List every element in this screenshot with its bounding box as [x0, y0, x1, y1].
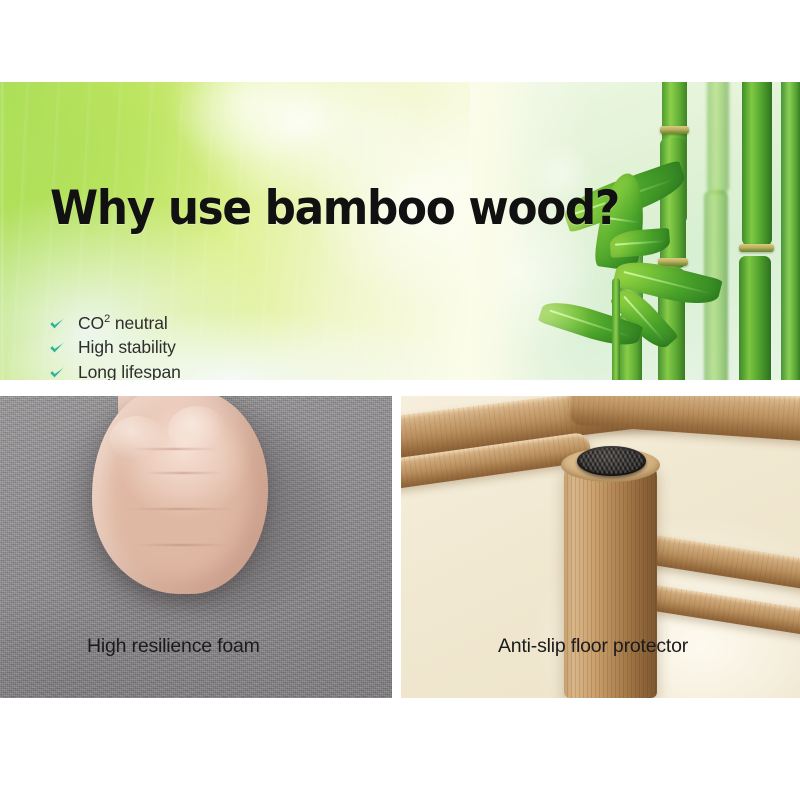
check-icon: [48, 363, 67, 380]
list-item-label: Long lifespan: [78, 364, 181, 381]
page-title: Why use bamboo wood?: [50, 185, 619, 232]
list-item: High stability: [48, 336, 321, 361]
foam-photo: High resilience foam: [0, 396, 392, 698]
bamboo-leg: [564, 458, 657, 698]
skin-crease: [144, 472, 222, 474]
knuckle-highlight: [110, 416, 164, 460]
fist-pressing-foam: [92, 396, 268, 594]
list-item: Long lifespan: [48, 360, 321, 380]
skin-crease: [132, 448, 218, 450]
benefits-list: CO2 neutral High stability Long lifespan…: [48, 311, 321, 380]
feature-photo-row: High resilience foam Anti-slip floor pro…: [0, 396, 800, 698]
anti-slip-rubber-pad: [577, 446, 646, 476]
list-item-label: CO2 neutral: [78, 314, 168, 332]
list-item: CO2 neutral: [48, 311, 321, 336]
check-icon: [48, 314, 67, 333]
knuckle-highlight: [168, 406, 226, 454]
why-bamboo-banner: Why use bamboo wood? CO2 neutral High st…: [0, 82, 800, 380]
photo-caption: High resilience foam: [87, 637, 260, 657]
photo-caption: Anti-slip floor protector: [498, 637, 688, 657]
check-icon: [48, 338, 67, 357]
skin-crease: [136, 544, 228, 546]
floor-protector-photo: Anti-slip floor protector: [401, 396, 800, 698]
skin-crease: [128, 508, 232, 510]
product-feature-page: Why use bamboo wood? CO2 neutral High st…: [0, 0, 800, 800]
list-item-label: High stability: [78, 339, 176, 357]
